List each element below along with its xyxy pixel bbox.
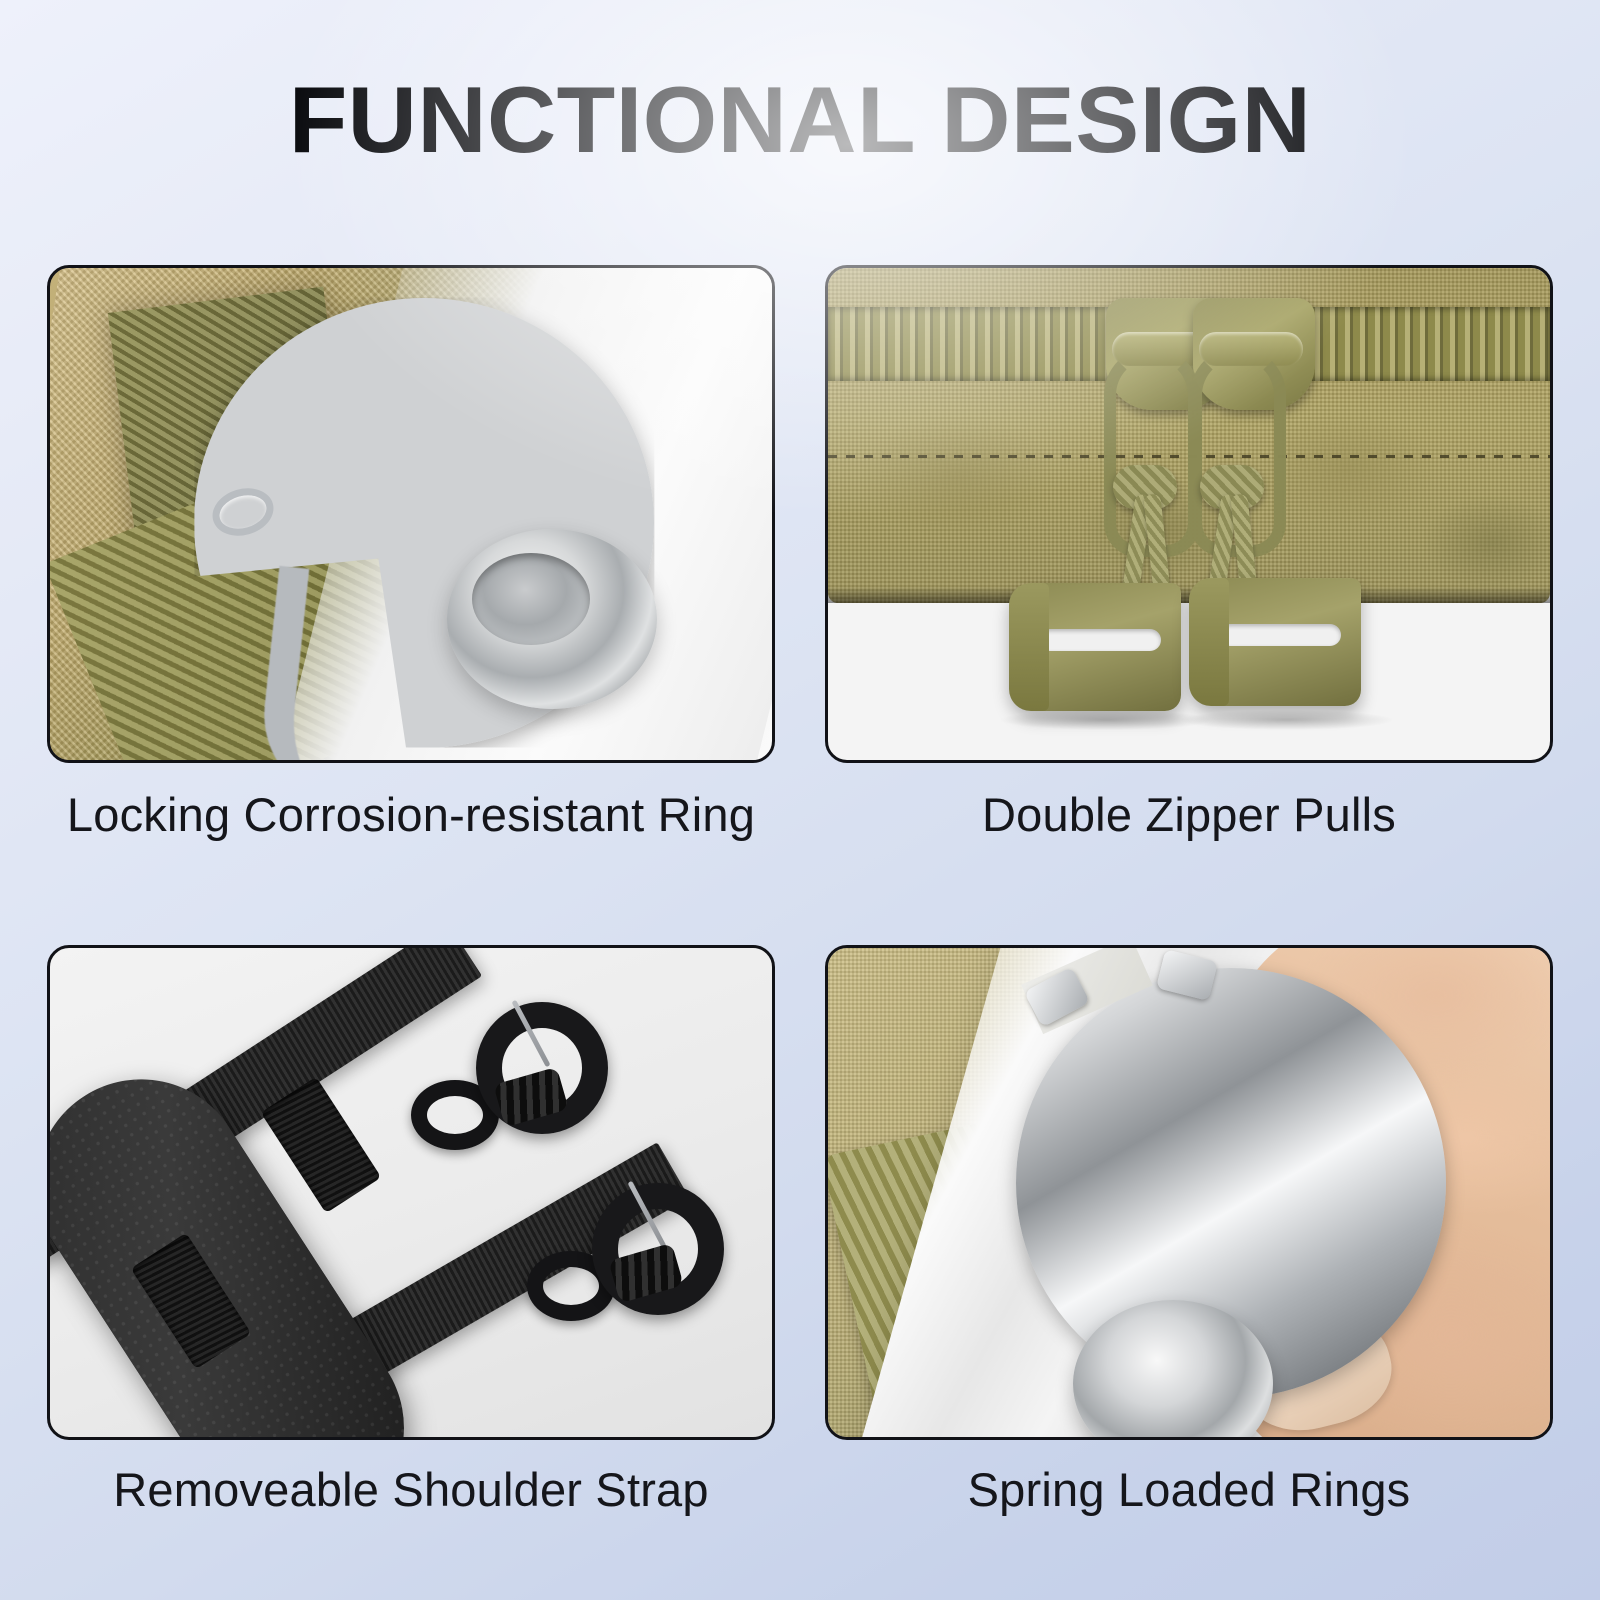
feature-cell-spring-rings: KA Spring Loaded Rings (825, 945, 1553, 1516)
feature-cell-locking-ring: Locking Corrosion-resistant Ring (47, 265, 775, 841)
d-ring-pull-tab-right (1189, 578, 1361, 706)
page-title: FUNCTIONAL DESIGN (0, 72, 1600, 168)
chrome-ring-lower-arc (255, 566, 428, 763)
feature-caption-locking-ring: Locking Corrosion-resistant Ring (47, 789, 775, 841)
feature-photo-spring-rings: KA (825, 945, 1553, 1440)
feature-cell-shoulder-strap: Removeable Shoulder Strap (47, 945, 775, 1516)
grommet-hole (472, 553, 590, 645)
feature-photo-zipper-pulls (825, 265, 1553, 763)
feature-cell-zipper-pulls: Double Zipper Pulls (825, 265, 1553, 841)
feature-photo-locking-ring (47, 265, 775, 763)
infographic-page: FUNCTIONAL DESIGN Locking Corrosion-resi… (0, 0, 1600, 1600)
feature-photo-shoulder-strap (47, 945, 775, 1440)
d-ring-shadow-left (1001, 710, 1211, 730)
feature-caption-shoulder-strap: Removeable Shoulder Strap (47, 1464, 775, 1516)
d-ring-pull-tab-left (1009, 583, 1181, 711)
feature-grid: Locking Corrosion-resistant Ring (47, 265, 1553, 1540)
feature-caption-zipper-pulls: Double Zipper Pulls (825, 789, 1553, 841)
d-ring-shadow-right (1182, 710, 1392, 730)
feature-caption-spring-rings: Spring Loaded Rings (825, 1464, 1553, 1516)
